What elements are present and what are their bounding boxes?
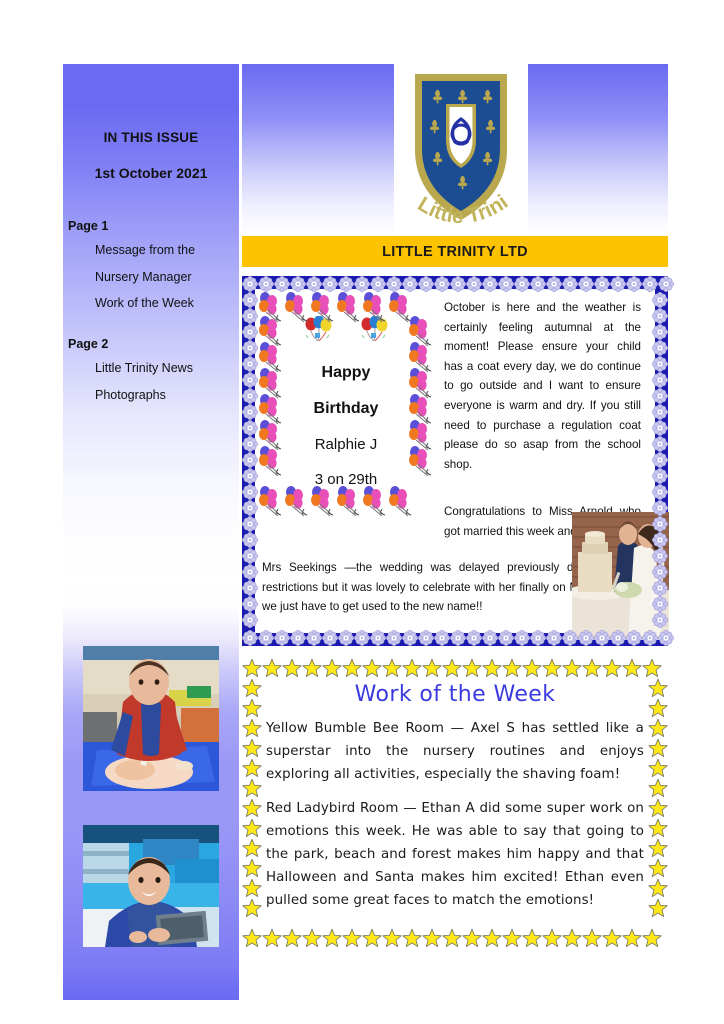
star-icon: [242, 818, 262, 838]
star-border-bottom: [242, 928, 662, 948]
flower-icon: [434, 276, 450, 292]
flower-icon: [242, 548, 258, 564]
newsletter-article: October is here and the weather is certa…: [256, 290, 654, 632]
flower-icon: [546, 276, 562, 292]
flower-icon: [530, 630, 546, 646]
flower-icon: [242, 580, 258, 596]
company-name: LITTLE TRINITY LTD: [382, 244, 528, 260]
logo-card: Little Trinity: [394, 64, 528, 235]
star-icon: [362, 928, 382, 948]
child-sand-tray-photo: [83, 646, 219, 791]
flower-icon: [652, 612, 668, 628]
star-icon: [342, 928, 362, 948]
little-trinity-shield-logo: Little Trinity: [401, 64, 521, 235]
star-icon: [402, 658, 422, 678]
flower-icon: [652, 308, 668, 324]
star-icon: [382, 928, 402, 948]
flower-icon: [242, 324, 258, 340]
flower-icon: [482, 276, 498, 292]
work-of-the-week-content: Work of the Week Yellow Bumble Bee Room …: [266, 680, 644, 923]
star-icon: [522, 658, 542, 678]
star-icon: [542, 928, 562, 948]
work-of-the-week-title: Work of the Week: [266, 682, 644, 707]
flower-icon: [242, 564, 258, 580]
star-icon: [342, 658, 362, 678]
star-icon: [648, 858, 668, 878]
star-icon: [242, 928, 262, 948]
flower-icon: [578, 276, 594, 292]
star-icon: [302, 928, 322, 948]
flower-icon: [242, 308, 258, 324]
flower-icon: [498, 630, 514, 646]
star-icon: [648, 818, 668, 838]
work-of-the-week-paragraph: Red Ladybird Room — Ethan A did some sup…: [266, 797, 644, 913]
flower-icon: [642, 630, 658, 646]
flower-icon: [242, 388, 258, 404]
flower-icon: [306, 276, 322, 292]
star-icon: [502, 658, 522, 678]
flower-icon: [242, 404, 258, 420]
star-icon: [322, 658, 342, 678]
flower-icon: [652, 292, 668, 308]
work-of-the-week-paragraph: Yellow Bumble Bee Room — Axel S has sett…: [266, 717, 644, 787]
star-icon: [242, 858, 262, 878]
star-icon: [648, 698, 668, 718]
news-inner: Happy Birthday Ralphie J 3 on 29th Octob…: [255, 289, 655, 633]
flower-icon: [610, 630, 626, 646]
flower-icon: [242, 596, 258, 612]
star-icon: [582, 658, 602, 678]
article-paragraph-1: October is here and the weather is certa…: [444, 298, 641, 474]
flower-icon: [652, 340, 668, 356]
star-icon: [362, 658, 382, 678]
flower-icon: [354, 630, 370, 646]
sidebar: IN THIS ISSUE 1st October 2021 Page 1 Me…: [63, 64, 239, 1000]
star-icon: [522, 928, 542, 948]
flower-icon: [338, 630, 354, 646]
flower-icon: [242, 500, 258, 516]
flower-icon: [594, 276, 610, 292]
star-icon: [262, 928, 282, 948]
flower-icon: [652, 436, 668, 452]
flower-icon: [610, 276, 626, 292]
flower-icon: [642, 276, 658, 292]
flower-icon: [658, 630, 674, 646]
toc-entry[interactable]: Little Trinity News: [95, 361, 239, 377]
star-icon: [648, 798, 668, 818]
star-icon: [648, 878, 668, 898]
sidebar-header: IN THIS ISSUE 1st October 2021: [63, 64, 239, 181]
star-icon: [602, 658, 622, 678]
flower-icon: [658, 276, 674, 292]
star-icon: [442, 658, 462, 678]
star-icon: [242, 678, 262, 698]
flower-icon: [242, 420, 258, 436]
flower-icon: [242, 276, 258, 292]
in-this-issue-label: IN THIS ISSUE: [63, 130, 239, 145]
flower-icon: [402, 276, 418, 292]
flower-icon: [242, 468, 258, 484]
toc-entry[interactable]: Work of the Week: [95, 296, 239, 312]
flower-icon: [498, 276, 514, 292]
star-icon: [262, 658, 282, 678]
flower-border-col: [242, 292, 258, 628]
star-icon: [622, 928, 642, 948]
star-icon: [242, 718, 262, 738]
star-icon: [302, 658, 322, 678]
flower-icon: [652, 372, 668, 388]
header-banner: Little Trinity: [242, 64, 668, 235]
flower-icon: [652, 516, 668, 532]
flower-icon: [322, 630, 338, 646]
flower-icon: [370, 276, 386, 292]
toc-entry[interactable]: Photographs: [95, 388, 239, 404]
star-icon: [648, 718, 668, 738]
star-icon: [648, 738, 668, 758]
star-icon: [502, 928, 522, 948]
flower-icon: [652, 580, 668, 596]
flower-icon: [626, 276, 642, 292]
star-icon: [648, 838, 668, 858]
flower-icon: [652, 356, 668, 372]
flower-icon: [370, 630, 386, 646]
star-icon: [642, 658, 662, 678]
table-of-contents: Page 1 Message from the Nursery Manager …: [63, 219, 239, 414]
star-icon: [462, 658, 482, 678]
flower-icon: [652, 468, 668, 484]
star-icon: [562, 928, 582, 948]
flower-border-row: [242, 630, 668, 646]
star-icon: [482, 928, 502, 948]
star-icon: [422, 928, 442, 948]
flower-icon: [306, 630, 322, 646]
flower-icon: [514, 276, 530, 292]
flower-icon: [418, 630, 434, 646]
toc-page-heading: Page 2: [68, 337, 239, 351]
flower-icon: [242, 340, 258, 356]
flower-border-col: [652, 292, 668, 628]
flower-icon: [466, 276, 482, 292]
toc-entry[interactable]: Message from the: [95, 243, 239, 259]
star-icon: [382, 658, 402, 678]
flower-icon: [338, 276, 354, 292]
flower-icon: [274, 276, 290, 292]
star-icon: [242, 898, 262, 918]
flower-icon: [652, 532, 668, 548]
star-icon: [442, 928, 462, 948]
flower-icon: [242, 356, 258, 372]
star-icon: [242, 658, 262, 678]
toc-page-heading: Page 1: [68, 219, 239, 233]
star-icon: [242, 698, 262, 718]
flower-icon: [450, 276, 466, 292]
flower-icon: [562, 276, 578, 292]
flower-icon: [652, 500, 668, 516]
star-icon: [648, 898, 668, 918]
flower-icon: [546, 630, 562, 646]
flower-icon: [386, 276, 402, 292]
flower-icon: [652, 324, 668, 340]
star-icon: [242, 798, 262, 818]
flower-icon: [242, 630, 258, 646]
flower-icon: [466, 630, 482, 646]
star-border-left: [242, 678, 262, 918]
flower-icon: [242, 436, 258, 452]
issue-date: 1st October 2021: [63, 165, 239, 181]
flower-icon: [354, 276, 370, 292]
star-icon: [648, 778, 668, 798]
star-icon: [242, 778, 262, 798]
flower-icon: [290, 276, 306, 292]
flower-icon: [652, 420, 668, 436]
news-box: Happy Birthday Ralphie J 3 on 29th Octob…: [242, 276, 668, 646]
flower-icon: [242, 532, 258, 548]
star-icon: [642, 928, 662, 948]
star-icon: [482, 658, 502, 678]
star-icon: [562, 658, 582, 678]
flower-icon: [594, 630, 610, 646]
work-of-the-week-box: Work of the Week Yellow Bumble Bee Room …: [242, 658, 668, 948]
company-name-bar: LITTLE TRINITY LTD: [242, 236, 668, 267]
toc-spacer: [63, 323, 239, 337]
flower-icon: [258, 276, 274, 292]
flower-icon: [290, 630, 306, 646]
flower-icon: [258, 630, 274, 646]
flower-icon: [562, 630, 578, 646]
star-icon: [462, 928, 482, 948]
flower-icon: [386, 630, 402, 646]
flower-icon: [652, 564, 668, 580]
flower-icon: [242, 452, 258, 468]
star-border-right: [648, 678, 668, 918]
flower-icon: [652, 548, 668, 564]
toc-entry[interactable]: Nursery Manager: [95, 270, 239, 286]
flower-icon: [242, 484, 258, 500]
child-painting-photo: [83, 825, 219, 947]
star-icon: [282, 928, 302, 948]
star-icon: [242, 878, 262, 898]
flower-icon: [626, 630, 642, 646]
flower-icon: [450, 630, 466, 646]
flower-icon: [274, 630, 290, 646]
flower-icon: [242, 292, 258, 308]
flower-icon: [652, 452, 668, 468]
flower-icon: [514, 630, 530, 646]
flower-icon: [652, 484, 668, 500]
flower-icon: [530, 276, 546, 292]
star-icon: [322, 928, 342, 948]
flower-icon: [242, 516, 258, 532]
flower-icon: [434, 630, 450, 646]
flower-icon: [402, 630, 418, 646]
star-icon: [602, 928, 622, 948]
flower-icon: [652, 388, 668, 404]
star-icon: [402, 928, 422, 948]
star-icon: [622, 658, 642, 678]
flower-icon: [242, 612, 258, 628]
star-icon: [242, 758, 262, 778]
star-icon: [542, 658, 562, 678]
flower-icon: [578, 630, 594, 646]
flower-border-row: [242, 276, 668, 292]
flower-icon: [652, 404, 668, 420]
star-icon: [282, 658, 302, 678]
star-icon: [582, 928, 602, 948]
flower-icon: [482, 630, 498, 646]
star-icon: [648, 678, 668, 698]
flower-icon: [652, 596, 668, 612]
star-icon: [242, 838, 262, 858]
star-icon: [422, 658, 442, 678]
star-icon: [648, 758, 668, 778]
flower-icon: [242, 372, 258, 388]
star-border-top: [242, 658, 662, 678]
flower-icon: [322, 276, 338, 292]
star-icon: [242, 738, 262, 758]
flower-icon: [418, 276, 434, 292]
